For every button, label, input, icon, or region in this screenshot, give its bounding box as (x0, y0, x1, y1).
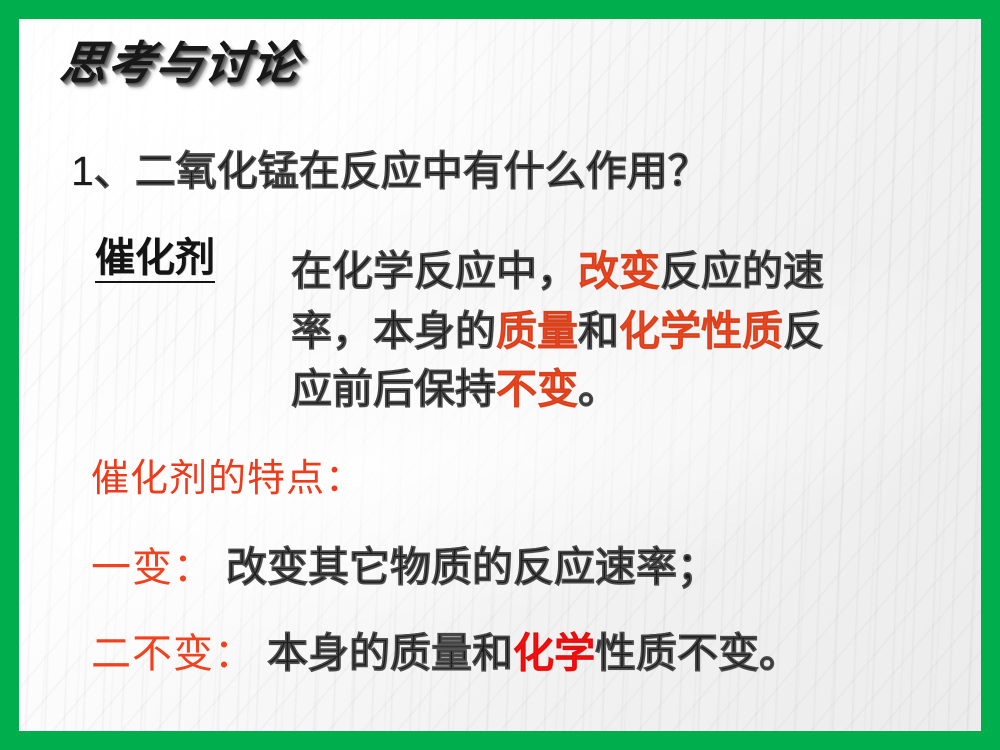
definition-line1-highlight: 改变 (578, 248, 660, 294)
definition-term: 催化剂 (95, 237, 215, 283)
definition-line3-period: 。 (578, 366, 619, 412)
definition-line2-part-a: 率，本身的 (291, 308, 496, 354)
feature-1-body-a: 改变其它物质的反应速率 (226, 544, 677, 590)
question-number: 1 (71, 148, 94, 194)
definition-line-2: 率，本身的质量和化学性质反 (291, 297, 824, 357)
question-line: 1、二氧化锰在反应中有什么作用？ (71, 137, 709, 197)
definition-line3-part-a: 应前后保持 (291, 366, 496, 412)
definition-line2-part-c: 和 (578, 308, 619, 354)
feature-1-body-b: ； (677, 544, 718, 590)
definition-line2-highlight-mass: 质量 (496, 308, 578, 354)
feature-1-body: 改变其它物质的反应速率； (226, 544, 718, 590)
definition-line1-part-c: 反应的速 (660, 248, 824, 294)
feature-2-body-a: 本身的质量和 (267, 630, 513, 676)
definition-line-3: 应前后保持不变。 (291, 355, 619, 415)
features-heading: 催化剂的特点： (91, 447, 364, 502)
slide-content: 思考与讨论 1、二氧化锰在反应中有什么作用？ 催化剂 在化学反应中，改变反应的速… (19, 19, 981, 731)
feature-2-label: 二不变： (91, 632, 255, 676)
definition-line3-highlight: 不变 (496, 366, 578, 412)
definition-line1-part-a: 在化学反应中， (291, 248, 578, 294)
slide-frame: 思考与讨论 1、二氧化锰在反应中有什么作用？ 催化剂 在化学反应中，改变反应的速… (0, 0, 1000, 750)
slide-canvas: 思考与讨论 1、二氧化锰在反应中有什么作用？ 催化剂 在化学反应中，改变反应的速… (19, 19, 981, 731)
definition-line-1: 在化学反应中，改变反应的速 (291, 237, 824, 297)
feature-2-body-b: 性质不变。 (595, 630, 800, 676)
feature-1-label: 一变： (91, 546, 214, 590)
feature-item-2: 二不变：本身的质量和化学性质不变。 (91, 619, 800, 679)
feature-2-body: 本身的质量和化学性质不变。 (267, 630, 800, 676)
definition-line2-highlight-chemprop: 化学性质 (619, 308, 783, 354)
page-title: 思考与讨论 (57, 27, 305, 93)
feature-2-body-highlight: 化学 (513, 630, 595, 676)
definition-line2-part-e: 反 (783, 308, 824, 354)
question-text: 二氧化锰在反应中有什么作用？ (135, 148, 709, 194)
feature-item-1: 一变：改变其它物质的反应速率； (91, 533, 718, 593)
question-separator: 、 (94, 148, 135, 194)
